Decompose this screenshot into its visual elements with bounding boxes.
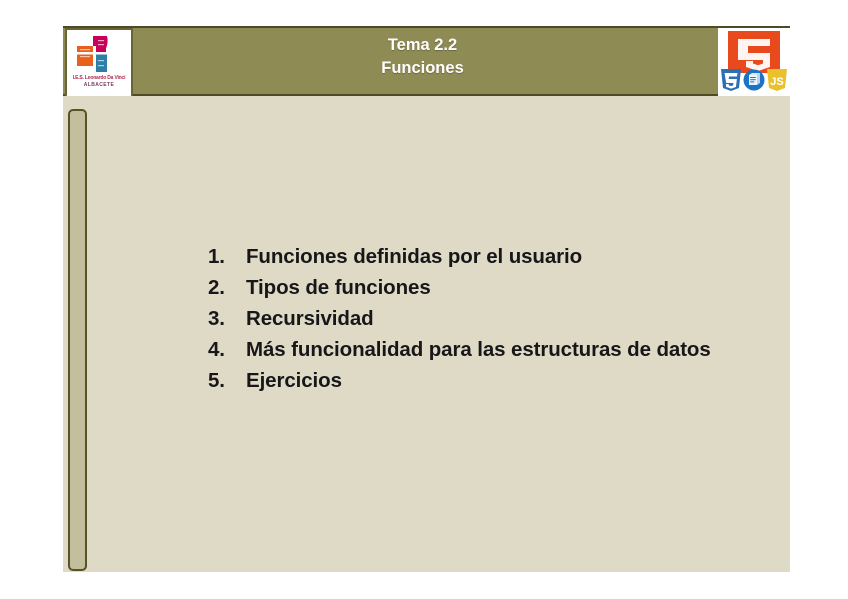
school-logo-art [67,32,131,76]
school-logo: I.E.S. Leonardo Da Vinci ALBACETE [65,28,133,98]
list-item-label: Funciones definidas por el usuario [246,241,738,272]
slide-header: I.E.S. Leonardo Da Vinci ALBACETE Tema 2… [63,26,790,96]
list-item-number: 5. [208,365,234,396]
javascript-badge: JS [766,68,788,92]
agenda-list: 1. Funciones definidas por el usuario 2.… [208,241,738,396]
jquery-badge [743,68,765,92]
slide-title-line2: Funciones [133,57,712,80]
presentation-slide: I.E.S. Leonardo Da Vinci ALBACETE Tema 2… [63,26,790,572]
list-item-number: 1. [208,241,234,272]
technology-logos: JS [718,28,790,98]
list-item-number: 4. [208,334,234,365]
list-item-number: 2. [208,272,234,303]
slide-accent-bar [68,109,87,571]
list-item: 1. Funciones definidas por el usuario [208,241,738,272]
slide-title: Tema 2.2 Funciones [133,34,712,80]
list-item-number: 3. [208,303,234,334]
list-item: 3. Recursividad [208,303,738,334]
list-item-label: Ejercicios [246,365,738,396]
list-item: 2. Tipos de funciones [208,272,738,303]
list-item: 5. Ejercicios [208,365,738,396]
css3-badge [720,68,742,92]
list-item-label: Recursividad [246,303,738,334]
list-item: 4. Más funcionalidad para las estructura… [208,334,738,365]
list-item-label: Tipos de funciones [246,272,738,303]
slide-content: 1. Funciones definidas por el usuario 2.… [63,96,790,572]
school-logo-city: ALBACETE [67,82,131,88]
school-logo-caption: I.E.S. Leonardo Da Vinci [67,75,131,81]
slide-title-line1: Tema 2.2 [133,34,712,57]
list-item-label: Más funcionalidad para las estructuras d… [246,334,738,365]
svg-text:JS: JS [770,76,783,88]
